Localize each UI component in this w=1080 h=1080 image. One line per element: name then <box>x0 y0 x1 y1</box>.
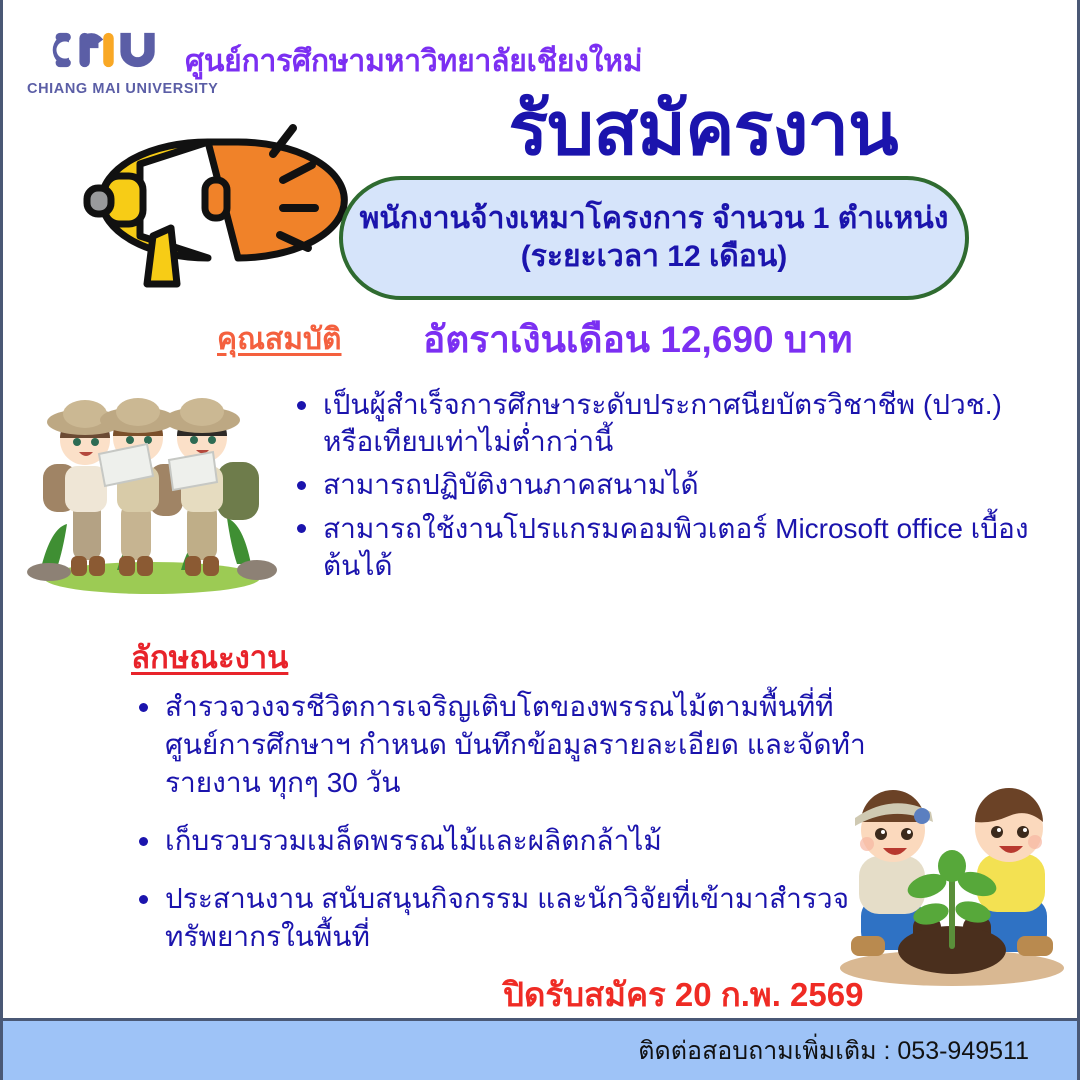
two-boys-planting-sapling-illustration <box>821 778 1080 990</box>
page-title: รับสมัครงาน <box>423 92 983 166</box>
position-line-2: (ระยะเวลา 12 เดือน) <box>521 240 788 274</box>
application-deadline: ปิดรับสมัคร 20 ก.พ. 2569 <box>503 968 863 1021</box>
organization-name: ศูนย์การศึกษามหาวิทยาลัยเชียงใหม่ <box>185 38 642 85</box>
recruitment-poster: CHIANG MAI UNIVERSITY ศูนย์การศึกษามหาวิ… <box>0 0 1080 1080</box>
list-item: เก็บรวบรวมเมล็ดพรรณไม้และผลิตกล้าไม้ <box>131 822 871 860</box>
megaphone-icon <box>65 108 357 303</box>
duties-list: สำรวจวงจรชีวิตการเจริญเติบโตของพรรณไม้ตา… <box>131 688 871 976</box>
cmu-logo-mark <box>27 22 189 78</box>
list-item: เป็นผู้สำเร็จการศึกษาระดับประกาศนียบัตรว… <box>289 386 1049 460</box>
cmu-logo-subtitle: CHIANG MAI UNIVERSITY <box>27 81 202 97</box>
position-box: พนักงานจ้างเหมาโครงการ จำนวน 1 ตำแหน่ง (… <box>339 176 969 300</box>
contact-text: ติดต่อสอบถามเพิ่มเติม : 053-949511 <box>638 1031 1029 1071</box>
qualifications-heading: คุณสมบัติ <box>217 316 342 363</box>
list-item: สามารถใช้งานโปรแกรมคอมพิวเตอร์ Microsoft… <box>289 510 1049 584</box>
cmu-logo: CHIANG MAI UNIVERSITY <box>27 22 202 102</box>
salary-text: อัตราเงินเดือน 12,690 บาท <box>423 310 852 369</box>
list-item: สามารถปฏิบัติงานภาคสนามได้ <box>289 466 1049 503</box>
list-item: ประสานงาน สนับสนุนกิจกรรม และนักวิจัยที่… <box>131 880 871 956</box>
qualifications-list: เป็นผู้สำเร็จการศึกษาระดับประกาศนียบัตรว… <box>289 386 1049 590</box>
three-scout-children-illustration <box>21 382 283 598</box>
position-line-1: พนักงานจ้างเหมาโครงการ จำนวน 1 ตำแหน่ง <box>360 202 949 236</box>
list-item: สำรวจวงจรชีวิตการเจริญเติบโตของพรรณไม้ตา… <box>131 688 871 802</box>
footer-bar: ติดต่อสอบถามเพิ่มเติม : 053-949511 <box>3 1018 1077 1080</box>
duties-heading: ลักษณะงาน <box>131 632 288 682</box>
